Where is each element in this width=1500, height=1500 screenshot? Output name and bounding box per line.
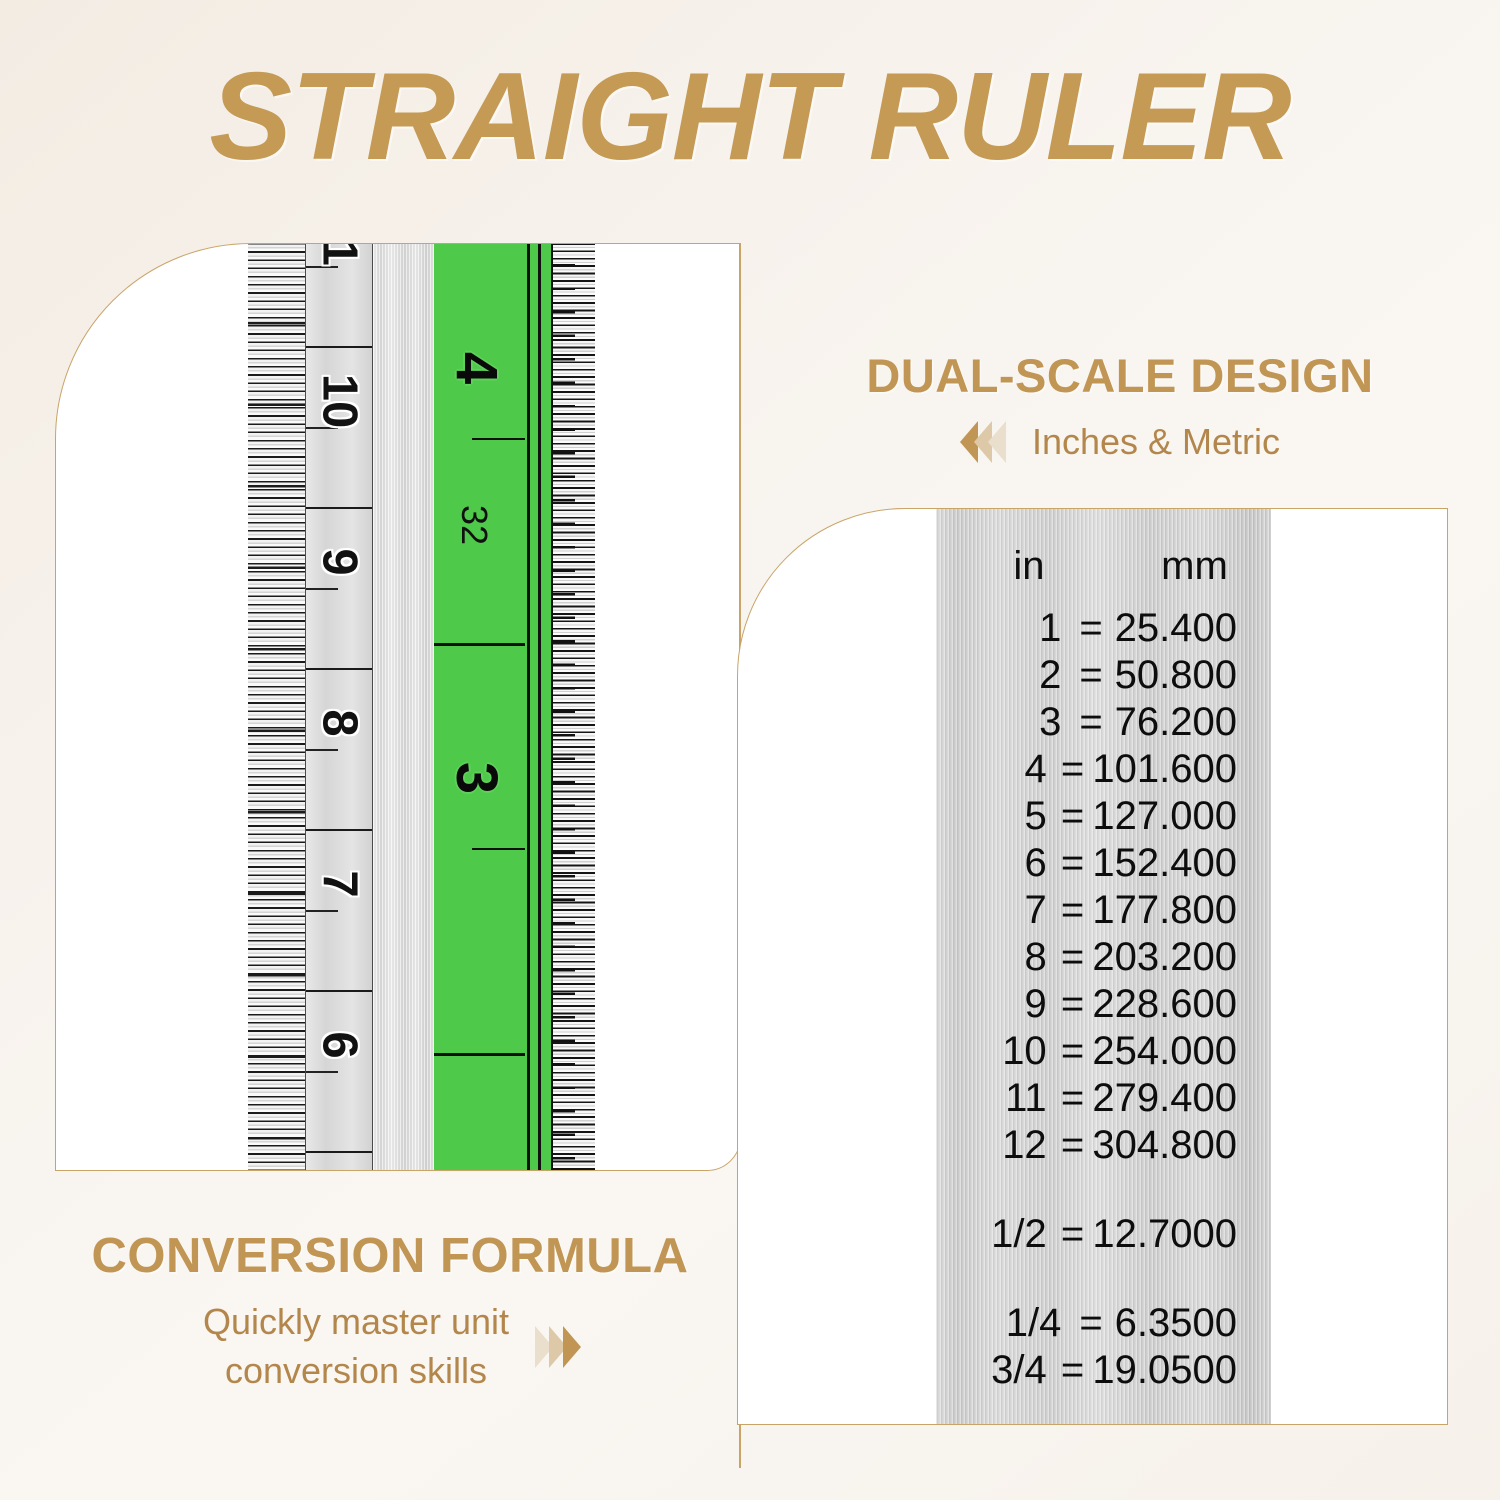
conversion-formula-subtitle: Quickly master unit conversion skills — [203, 1298, 509, 1395]
half-inch-tick — [472, 438, 525, 440]
table-row: 6=152.400 — [970, 843, 1243, 890]
cell-millimeters: 279.400 — [1092, 1078, 1243, 1118]
cell-millimeters: 177.800 — [1092, 890, 1243, 930]
section-gap — [970, 1172, 1243, 1214]
whole-inch-rows: 1=25.4002=50.8003=76.2004=101.6005=127.0… — [970, 608, 1243, 1172]
cell-millimeters: 101.600 — [1092, 749, 1243, 789]
table-row: 1/4=6.3500 — [970, 1303, 1243, 1350]
graduation-label-32: 32 — [456, 505, 492, 545]
cell-equals: = — [1053, 749, 1093, 789]
cell-millimeters: 12.7000 — [1092, 1214, 1243, 1254]
half-centimeter-tick — [306, 749, 338, 751]
table-row: 10=254.000 — [970, 1031, 1243, 1078]
cell-inches: 1/2 — [970, 1214, 1053, 1254]
section-gap — [970, 1397, 1243, 1425]
chevron-right-icon — [563, 1326, 581, 1368]
half-centimeter-tick — [306, 910, 338, 912]
table-row: 1/2=12.7000 — [970, 1214, 1243, 1261]
centimeter-label: 6 — [315, 1031, 364, 1058]
cell-millimeters: 76.200 — [1115, 702, 1243, 742]
cell-equals: = — [1053, 1078, 1093, 1118]
conversion-formula-heading: CONVERSION FORMULA — [40, 1228, 740, 1284]
cell-inches: 2 — [970, 655, 1067, 695]
cell-equals: = — [1053, 1125, 1093, 1165]
cell-inches: 6 — [970, 843, 1053, 883]
inch-label: 4 — [447, 352, 505, 384]
cell-inches: 1/4 — [970, 1303, 1067, 1343]
chevron-right-group — [535, 1326, 577, 1368]
half-centimeter-tick — [306, 1071, 338, 1073]
table-row: 7=177.800 — [970, 890, 1243, 937]
cell-equals: = — [1067, 702, 1114, 742]
table-row: 4=101.600 — [970, 749, 1243, 796]
centimeter-division-line — [306, 990, 372, 992]
centimeter-number-band: 1110987654 — [306, 243, 373, 1171]
centimeter-division-line — [306, 507, 372, 509]
cell-millimeters: 304.800 — [1092, 1125, 1243, 1165]
cell-inches: 4 — [970, 749, 1053, 789]
cell-equals: = — [1053, 984, 1093, 1024]
ruler-photo-card: 1110987654 43232 — [55, 243, 741, 1171]
cell-inches: 9 — [970, 984, 1053, 1024]
table-row: 5=127.000 — [970, 796, 1243, 843]
dual-scale-subtitle: Inches & Metric — [1032, 421, 1280, 463]
cell-equals: = — [1053, 890, 1093, 930]
centimeter-label: 8 — [315, 709, 364, 736]
inch-division-line — [434, 643, 525, 646]
brushed-metal-body — [373, 243, 434, 1171]
centimeter-division-line — [306, 668, 372, 670]
cell-equals: = — [1053, 1350, 1093, 1390]
cell-millimeters: 50.800 — [1115, 655, 1243, 695]
table-row: 1=25.400 — [970, 608, 1243, 655]
table-row: 11=279.400 — [970, 1078, 1243, 1125]
cell-equals: = — [1053, 843, 1093, 883]
quarter-inch-rows: 1/4=6.35003/4=19.0500 — [970, 1303, 1243, 1397]
page-title: STRAIGHT RULER — [0, 52, 1500, 182]
cell-inches: 8 — [970, 937, 1053, 977]
conversion-table: in mm 1=25.4002=50.8003=76.2004=101.6005… — [936, 508, 1271, 1425]
conversion-formula-block: CONVERSION FORMULA Quickly master unit c… — [40, 1228, 740, 1395]
cell-equals: = — [1067, 655, 1114, 695]
cell-millimeters: 127.000 — [1092, 796, 1243, 836]
table-row: 3=76.200 — [970, 702, 1243, 749]
cell-inches: 1 — [970, 608, 1067, 648]
thirtysecond-hatch-scale — [551, 243, 595, 1171]
cell-inches: 5 — [970, 796, 1053, 836]
table-row: 2=50.800 — [970, 655, 1243, 702]
centimeter-division-line — [306, 346, 372, 348]
conversion-subtitle-line1: Quickly master unit — [203, 1301, 509, 1342]
cell-millimeters: 228.600 — [1092, 984, 1243, 1024]
inch-green-band: 43232 — [434, 243, 525, 1171]
cell-millimeters: 6.3500 — [1115, 1303, 1243, 1343]
cell-equals: = — [1053, 937, 1093, 977]
cell-millimeters: 152.400 — [1092, 843, 1243, 883]
cell-inches: 12 — [970, 1125, 1053, 1165]
fraction-rule-column — [525, 243, 551, 1171]
millimeter-hatch-scale — [248, 243, 306, 1171]
cell-millimeters: 19.0500 — [1092, 1350, 1243, 1390]
centimeter-label: 9 — [315, 548, 364, 575]
column-header-mm: mm — [1146, 546, 1243, 586]
cell-millimeters: 254.000 — [1092, 1031, 1243, 1071]
cell-inches: 7 — [970, 890, 1053, 930]
table-row: 12=304.800 — [970, 1125, 1243, 1172]
cell-inches: 3/4 — [970, 1350, 1053, 1390]
cell-inches: 10 — [970, 1031, 1053, 1071]
centimeter-division-line — [306, 1151, 372, 1153]
centimeter-division-line — [306, 829, 372, 831]
dual-scale-heading: DUAL-SCALE DESIGN — [820, 348, 1420, 403]
cell-millimeters: 25.400 — [1115, 608, 1243, 648]
table-row: 9=228.600 — [970, 984, 1243, 1031]
dual-scale-feature-block: DUAL-SCALE DESIGN Inches & Metric — [820, 348, 1420, 463]
centimeter-label: 7 — [315, 870, 364, 897]
inch-label: 3 — [447, 762, 505, 794]
cell-millimeters: 203.200 — [1092, 937, 1243, 977]
cell-equals: = — [1053, 1031, 1093, 1071]
cell-inches: 3 — [970, 702, 1067, 742]
column-header-in: in — [970, 546, 1088, 586]
conversion-table-card: in mm 1=25.4002=50.8003=76.2004=101.6005… — [737, 508, 1448, 1425]
centimeter-label: 11 — [315, 243, 364, 266]
ruler-product-photo: 1110987654 43232 — [248, 243, 595, 1171]
half-centimeter-tick — [306, 588, 338, 590]
table-row: 3/4=19.0500 — [970, 1350, 1243, 1397]
section-gap — [970, 1261, 1243, 1303]
cell-equals: = — [1067, 608, 1114, 648]
chevron-left-group — [960, 421, 1002, 463]
half-inch-rows: 1/2=12.7000 — [970, 1214, 1243, 1261]
cell-equals: = — [1053, 1214, 1093, 1254]
half-inch-tick — [472, 848, 525, 850]
conversion-subtitle-line2: conversion skills — [225, 1350, 487, 1391]
cell-equals: = — [1053, 796, 1093, 836]
table-row: 8=203.200 — [970, 937, 1243, 984]
inch-division-line — [434, 1053, 525, 1056]
table-header-row: in mm — [970, 546, 1243, 586]
cell-equals: = — [1067, 1303, 1114, 1343]
centimeter-label: 10 — [315, 373, 364, 428]
header-spacer — [1088, 546, 1146, 586]
chevron-left-icon — [988, 421, 1006, 463]
conversion-table-plate: in mm 1=25.4002=50.8003=76.2004=101.6005… — [936, 508, 1271, 1425]
cell-inches: 11 — [970, 1078, 1053, 1118]
